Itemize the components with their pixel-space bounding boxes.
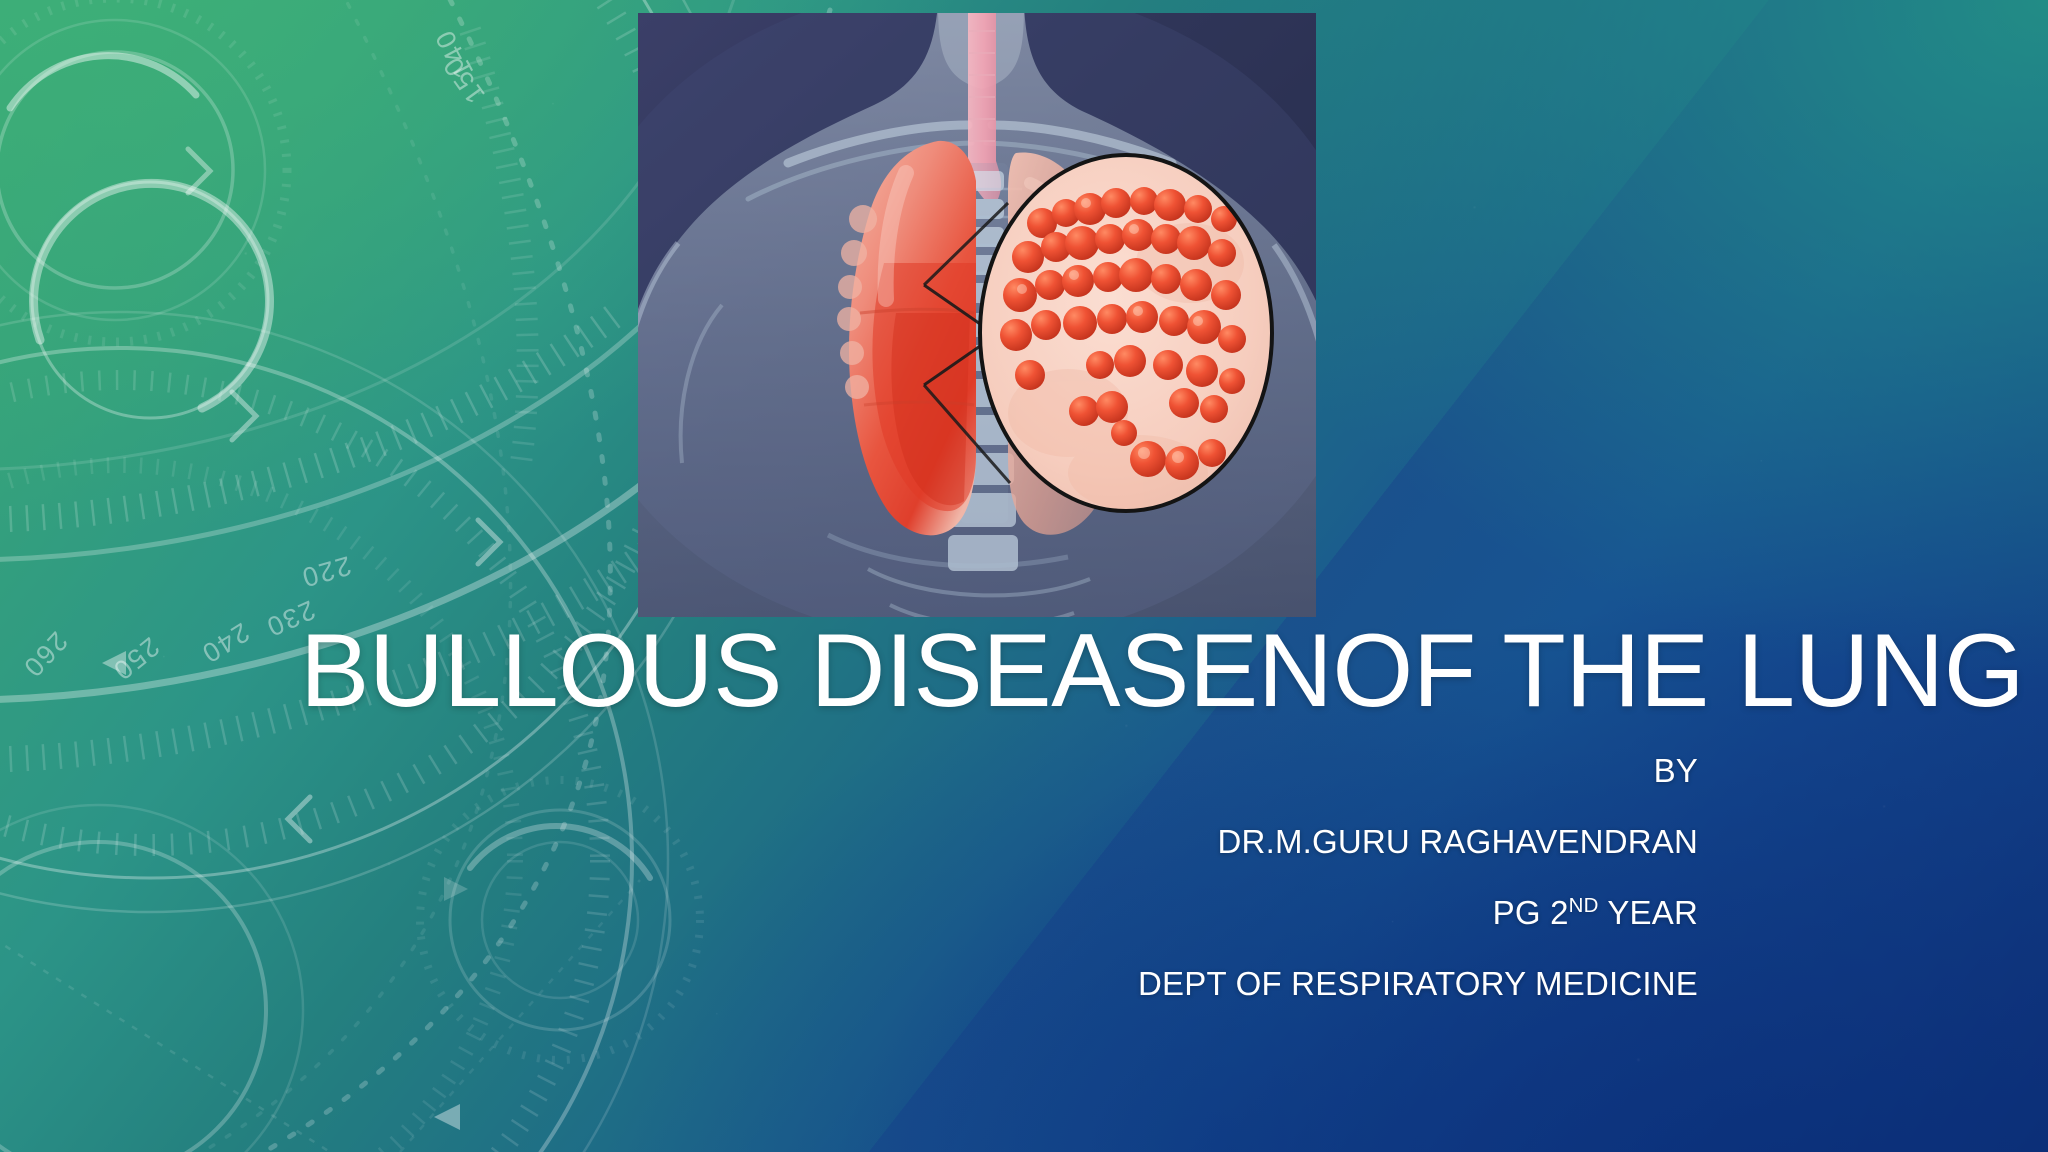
presenter-name: DR.M.GURU RAGHAVENDRAN — [600, 816, 1698, 868]
year-ordinal-suffix: ND — [1569, 894, 1599, 917]
year-line: PG 2ND YEAR — [600, 887, 1698, 939]
byline-label: BY — [600, 745, 1698, 797]
lung-anatomy-image — [638, 13, 1316, 617]
department-name: DEPT OF RESPIRATORY MEDICINE — [600, 958, 1698, 1010]
year-prefix: PG 2 — [1493, 894, 1569, 931]
lung-anatomy-illustration — [638, 13, 1316, 617]
slide-subtitle-block: BY DR.M.GURU RAGHAVENDRAN PG 2ND YEAR DE… — [600, 745, 1698, 1011]
year-tail: YEAR — [1599, 894, 1698, 931]
slide-title: BULLOUS DISEASENOF THE LUNG — [300, 618, 1698, 724]
presentation-slide: 140 150 220 230 240 250 260 — [0, 0, 2048, 1152]
